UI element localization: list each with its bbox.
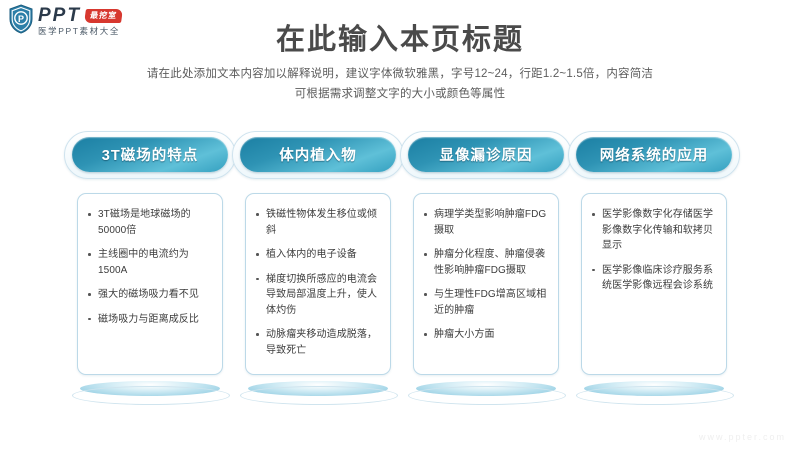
list-item: 3T磁场是地球磁场的50000倍 bbox=[86, 207, 213, 238]
list-item: 医学影像数字化存储医学影像数字化传输和软拷贝显示 bbox=[590, 207, 717, 254]
column-3-card: 病理学类型影响肿瘤FDG摄取 肿瘤分化程度、肿瘤侵袭性影响肿瘤FDG摄取 与生理… bbox=[413, 193, 559, 375]
pill-body[interactable]: 网络系统的应用 bbox=[576, 137, 732, 172]
list-item: 铁磁性物体发生移位或倾斜 bbox=[254, 207, 381, 238]
column-3-heading-label: 显像漏诊原因 bbox=[440, 144, 533, 165]
column-3-bullet-list: 病理学类型影响肿瘤FDG摄取 肿瘤分化程度、肿瘤侵袭性影响肿瘤FDG摄取 与生理… bbox=[422, 207, 549, 343]
list-item: 强大的磁场吸力看不见 bbox=[86, 287, 213, 303]
list-item: 主线圈中的电流约为1500A bbox=[86, 247, 213, 278]
column-4: 网络系统的应用 医学影像数字化存储医学影像数字化传输和软拷贝显示 医学影像临床诊… bbox=[568, 131, 740, 431]
page-title: 在此输入本页标题 bbox=[0, 16, 800, 58]
list-item: 梯度切换所感应的电流会导致局部温度上升，使人体灼伤 bbox=[254, 272, 381, 319]
list-item: 肿瘤大小方面 bbox=[422, 327, 549, 343]
subtitle-line-1: 请在此处添加文本内容加以解释说明，建议字体微软雅黑，字号12~24，行距1.2~… bbox=[100, 64, 700, 84]
column-2-bullet-list: 铁磁性物体发生移位或倾斜 植入体内的电子设备 梯度切换所感应的电流会导致局部温度… bbox=[254, 207, 381, 358]
column-1-shadow bbox=[72, 381, 228, 407]
column-2-shadow bbox=[240, 381, 396, 407]
column-3-shadow bbox=[408, 381, 564, 407]
column-3-header[interactable]: 显像漏诊原因 bbox=[400, 131, 572, 179]
column-2-heading-label: 体内植入物 bbox=[279, 144, 357, 165]
column-1: 3T磁场的特点 3T磁场是地球磁场的50000倍 主线圈中的电流约为1500A … bbox=[64, 131, 236, 431]
list-item: 医学影像临床诊疗服务系统医学影像远程会诊系统 bbox=[590, 263, 717, 294]
column-4-heading-label: 网络系统的应用 bbox=[600, 144, 709, 165]
shadow-ellipse-outline bbox=[576, 386, 734, 405]
pill-body[interactable]: 显像漏诊原因 bbox=[408, 137, 564, 172]
shadow-ellipse-outline bbox=[72, 386, 230, 405]
list-item: 动脉瘤夹移动造成脱落，导致死亡 bbox=[254, 327, 381, 358]
pill-body[interactable]: 3T磁场的特点 bbox=[72, 137, 228, 172]
column-4-card: 医学影像数字化存储医学影像数字化传输和软拷贝显示 医学影像临床诊疗服务系统医学影… bbox=[581, 193, 727, 375]
column-3: 显像漏诊原因 病理学类型影响肿瘤FDG摄取 肿瘤分化程度、肿瘤侵袭性影响肿瘤FD… bbox=[400, 131, 572, 431]
list-item: 植入体内的电子设备 bbox=[254, 247, 381, 263]
column-4-header[interactable]: 网络系统的应用 bbox=[568, 131, 740, 179]
list-item: 磁场吸力与距离成反比 bbox=[86, 312, 213, 328]
column-2-header[interactable]: 体内植入物 bbox=[232, 131, 404, 179]
column-1-heading-label: 3T磁场的特点 bbox=[102, 144, 198, 165]
pill-body[interactable]: 体内植入物 bbox=[240, 137, 396, 172]
column-1-header[interactable]: 3T磁场的特点 bbox=[64, 131, 236, 179]
footer-watermark: www.ppter.com bbox=[699, 432, 786, 442]
column-4-bullet-list: 医学影像数字化存储医学影像数字化传输和软拷贝显示 医学影像临床诊疗服务系统医学影… bbox=[590, 207, 717, 294]
shadow-ellipse-outline bbox=[408, 386, 566, 405]
subtitle-line-2: 可根据需求调整文字的大小或颜色等属性 bbox=[100, 84, 700, 104]
list-item: 肿瘤分化程度、肿瘤侵袭性影响肿瘤FDG摄取 bbox=[422, 247, 549, 278]
content-columns: 3T磁场的特点 3T磁场是地球磁场的50000倍 主线圈中的电流约为1500A … bbox=[0, 131, 800, 431]
list-item: 与生理性FDG增高区域相近的肿瘤 bbox=[422, 287, 549, 318]
column-4-shadow bbox=[576, 381, 732, 407]
list-item: 病理学类型影响肿瘤FDG摄取 bbox=[422, 207, 549, 238]
column-1-card: 3T磁场是地球磁场的50000倍 主线圈中的电流约为1500A 强大的磁场吸力看… bbox=[77, 193, 223, 375]
column-2: 体内植入物 铁磁性物体发生移位或倾斜 植入体内的电子设备 梯度切换所感应的电流会… bbox=[232, 131, 404, 431]
column-2-card: 铁磁性物体发生移位或倾斜 植入体内的电子设备 梯度切换所感应的电流会导致局部温度… bbox=[245, 193, 391, 375]
shadow-ellipse-outline bbox=[240, 386, 398, 405]
column-1-bullet-list: 3T磁场是地球磁场的50000倍 主线圈中的电流约为1500A 强大的磁场吸力看… bbox=[86, 207, 213, 327]
page-subtitle: 请在此处添加文本内容加以解释说明，建议字体微软雅黑，字号12~24，行距1.2~… bbox=[100, 64, 700, 104]
